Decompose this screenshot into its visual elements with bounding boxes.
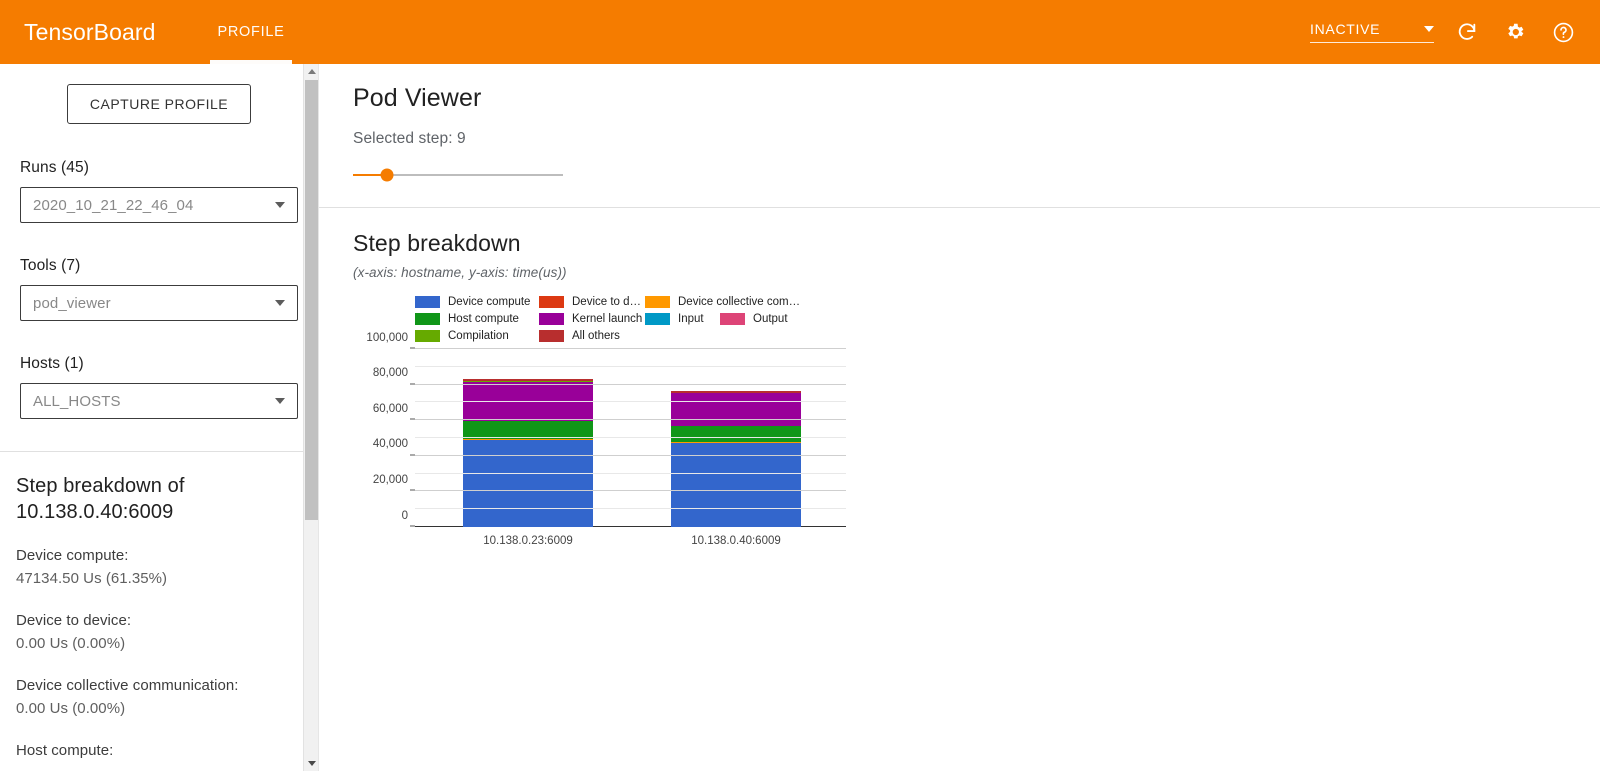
sidebar: CAPTURE PROFILE Runs (45) 2020_10_21_22_… — [0, 64, 318, 771]
bar-segment[interactable] — [463, 379, 593, 381]
legend-swatch — [539, 296, 564, 308]
bar-segment[interactable] — [463, 440, 593, 527]
nav-tabs: PROFILE — [200, 0, 303, 64]
stat-key: Host compute: — [16, 740, 302, 763]
top-bar-actions: INACTIVE — [1310, 17, 1578, 47]
tools-label: Tools (7) — [20, 257, 298, 275]
x-tick-label: 10.138.0.23:6009 — [483, 535, 573, 547]
capture-profile-row: CAPTURE PROFILE — [0, 64, 318, 124]
scroll-down-arrow-icon[interactable] — [304, 756, 318, 771]
legend-label: All others — [572, 330, 620, 342]
legend-label: Kernel launch — [572, 313, 642, 325]
status-dropdown[interactable]: INACTIVE — [1310, 21, 1434, 43]
chevron-down-icon — [275, 300, 285, 306]
legend-item-device-to-device[interactable]: Device to device — [539, 294, 645, 309]
sidebar-breakdown-title: Step breakdown of 10.138.0.40:6009 — [16, 474, 302, 525]
chevron-down-icon — [1424, 26, 1434, 32]
y-tick-label: 0 — [402, 510, 408, 522]
hosts-select[interactable]: ALL_HOSTS — [20, 383, 298, 419]
y-tick-label: 100,000 — [366, 332, 408, 344]
hosts-label: Hosts (1) — [20, 355, 298, 373]
sidebar-scrollbar-thumb[interactable] — [305, 80, 318, 520]
gridline-major — [415, 490, 846, 491]
chevron-down-icon — [275, 398, 285, 404]
gridline-minor — [415, 508, 846, 509]
top-app-bar: TensorBoard PROFILE INACTIVE — [0, 0, 1600, 64]
pod-viewer-header: Pod Viewer Selected step: 9 — [319, 64, 1600, 185]
legend-label: Device collective com… — [678, 296, 800, 308]
stat-host-compute: Host compute: — [16, 740, 302, 763]
stat-key: Device to device: — [16, 610, 302, 633]
scroll-up-arrow-icon[interactable] — [304, 64, 318, 79]
hosts-field: Hosts (1) ALL_HOSTS — [0, 355, 318, 419]
tab-profile-label: PROFILE — [218, 24, 285, 40]
tools-field: Tools (7) pod_viewer — [0, 257, 318, 321]
y-tick-label: 40,000 — [373, 438, 408, 450]
legend-item-all-others[interactable]: All others — [539, 328, 645, 343]
stat-value: 0.00 Us (0.00%) — [16, 633, 302, 656]
step-breakdown-card: Step breakdown (x-axis: hostname, y-axis… — [319, 208, 1600, 604]
y-tick-mark — [410, 526, 415, 527]
gear-icon — [1504, 21, 1526, 43]
legend-swatch — [415, 296, 440, 308]
y-tick-label: 20,000 — [373, 474, 408, 486]
tools-select-value: pod_viewer — [33, 295, 111, 312]
settings-button[interactable] — [1500, 17, 1530, 47]
bar-10-138-0-40[interactable] — [671, 391, 801, 527]
chart-legend: Device compute Device to device Device c… — [415, 294, 847, 345]
stat-device-compute: Device compute: 47134.50 Us (61.35%) — [16, 545, 302, 590]
gridline-minor — [415, 366, 846, 367]
chevron-down-icon — [275, 202, 285, 208]
y-tick-mark — [410, 454, 415, 455]
stat-key: Device compute: — [16, 545, 302, 568]
y-tick-mark — [410, 490, 415, 491]
gridline-major — [415, 348, 846, 349]
legend-swatch — [645, 313, 670, 325]
bar-segment[interactable] — [671, 426, 801, 442]
gridline-minor — [415, 473, 846, 474]
runs-select-value: 2020_10_21_22_46_04 — [33, 197, 193, 214]
step-breakdown-chart: Device compute Device to device Device c… — [353, 294, 853, 604]
legend-swatch — [415, 313, 440, 325]
page-title: Pod Viewer — [353, 84, 1600, 113]
legend-label: Host compute — [448, 313, 519, 325]
y-tick-mark — [410, 348, 415, 349]
reload-button[interactable] — [1452, 17, 1482, 47]
y-tick-label: 60,000 — [373, 403, 408, 415]
legend-swatch — [720, 313, 745, 325]
legend-item-input[interactable]: Input — [645, 311, 720, 326]
x-tick-label: 10.138.0.40:6009 — [691, 535, 781, 547]
legend-item-compilation[interactable]: Compilation — [415, 328, 539, 343]
legend-item-kernel-launch[interactable]: Kernel launch — [539, 311, 645, 326]
brand-title: TensorBoard — [24, 19, 156, 46]
selected-step-label: Selected step: 9 — [353, 130, 1600, 148]
step-slider-thumb[interactable] — [380, 169, 393, 182]
legend-item-device-compute[interactable]: Device compute — [415, 294, 539, 309]
legend-item-host-compute[interactable]: Host compute — [415, 311, 539, 326]
y-tick-mark — [410, 419, 415, 420]
stat-device-to-device: Device to device: 0.00 Us (0.00%) — [16, 610, 302, 655]
help-icon — [1552, 21, 1575, 44]
status-dropdown-value: INACTIVE — [1310, 21, 1380, 37]
legend-item-output[interactable]: Output — [720, 311, 805, 326]
legend-label: Compilation — [448, 330, 509, 342]
gridline-major — [415, 419, 846, 420]
capture-profile-button[interactable]: CAPTURE PROFILE — [67, 84, 251, 124]
legend-label: Device to device — [572, 296, 645, 308]
help-button[interactable] — [1548, 17, 1578, 47]
gridline-minor — [415, 401, 846, 402]
legend-swatch — [645, 296, 670, 308]
card-subtitle: (x-axis: hostname, y-axis: time(us)) — [353, 265, 1600, 280]
legend-swatch — [415, 330, 440, 342]
runs-field: Runs (45) 2020_10_21_22_46_04 — [0, 159, 318, 223]
legend-label: Device compute — [448, 296, 530, 308]
runs-select[interactable]: 2020_10_21_22_46_04 — [20, 187, 298, 223]
legend-swatch — [539, 330, 564, 342]
legend-label: Input — [678, 313, 704, 325]
bar-segment[interactable] — [671, 393, 801, 426]
chart-plot-area: 10.138.0.23:6009 10.138.0.40:6009 020,00… — [415, 349, 846, 527]
sidebar-scrollbar[interactable] — [303, 64, 318, 771]
reload-icon — [1456, 21, 1478, 43]
legend-label: Output — [753, 313, 788, 325]
runs-label: Runs (45) — [20, 159, 298, 177]
legend-swatch — [539, 313, 564, 325]
gridline-major — [415, 455, 846, 456]
tools-select[interactable]: pod_viewer — [20, 285, 298, 321]
tab-profile[interactable]: PROFILE — [200, 0, 303, 64]
stat-value: 0.00 Us (0.00%) — [16, 698, 302, 721]
stat-key: Device collective communication: — [16, 675, 302, 698]
y-tick-mark — [410, 383, 415, 384]
bar-segment[interactable] — [671, 391, 801, 393]
legend-item-device-collective-communication[interactable]: Device collective com… — [645, 294, 805, 309]
gridline-major — [415, 384, 846, 385]
step-slider[interactable] — [353, 165, 563, 185]
hosts-select-value: ALL_HOSTS — [33, 393, 121, 410]
stat-device-collective-communication: Device collective communication: 0.00 Us… — [16, 675, 302, 720]
card-title: Step breakdown — [353, 230, 1600, 257]
y-tick-label: 80,000 — [373, 367, 408, 379]
sidebar-step-breakdown: Step breakdown of 10.138.0.40:6009 Devic… — [0, 452, 318, 763]
stat-value: 47134.50 Us (61.35%) — [16, 568, 302, 591]
gridline-minor — [415, 437, 846, 438]
main-content: Pod Viewer Selected step: 9 Step breakdo… — [318, 64, 1600, 771]
